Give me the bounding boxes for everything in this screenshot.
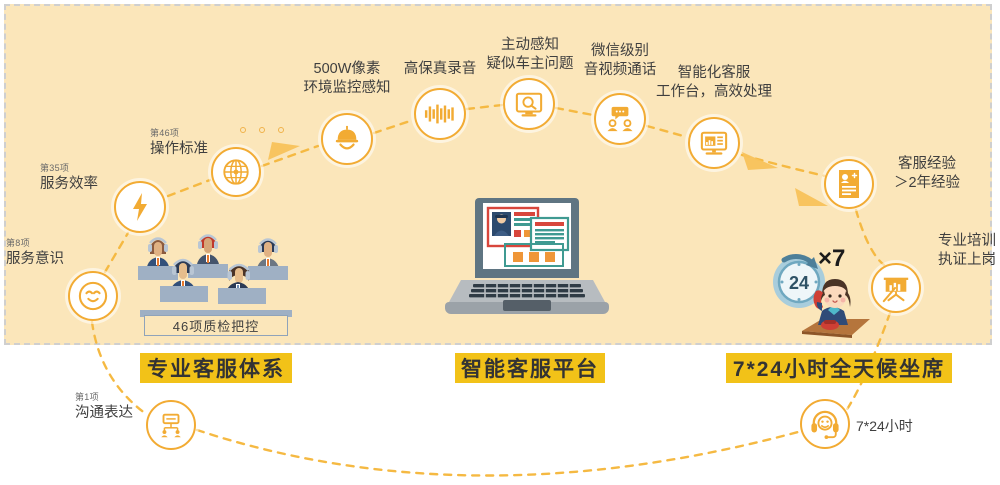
qc-label: 46项质检把控 bbox=[144, 315, 288, 336]
node-operation-standard[interactable] bbox=[211, 147, 261, 197]
caption-smart-workbench: 智能化客服 工作台，高效处理 bbox=[641, 64, 787, 102]
call-center-agents-illustration bbox=[132, 230, 312, 322]
caption-line-1: 智能化客服 bbox=[641, 64, 787, 83]
caption-service-awareness: 第8项 服务意识 bbox=[6, 238, 64, 269]
node-active-perception[interactable] bbox=[503, 78, 555, 130]
infographic-canvas: 第8项 服务意识 第35项 服务效率 第46项 操作标准 bbox=[0, 0, 1000, 485]
dot-3 bbox=[278, 127, 284, 133]
dome-camera-icon bbox=[332, 125, 362, 153]
dot-2 bbox=[259, 127, 265, 133]
clock-multiplier: ×7 bbox=[818, 245, 845, 273]
node-av-call[interactable] bbox=[594, 93, 646, 145]
dot-1 bbox=[240, 127, 246, 133]
easel-chart-icon bbox=[881, 273, 911, 303]
rank-label: 第35项 bbox=[40, 163, 98, 175]
caption-line-2: 工作台，高效处理 bbox=[641, 83, 787, 102]
waveform-icon bbox=[424, 102, 456, 126]
title-label: 服务意识 bbox=[6, 250, 64, 269]
node-service-efficiency[interactable] bbox=[114, 181, 166, 233]
headset-icon bbox=[810, 409, 840, 439]
lightning-icon bbox=[129, 192, 151, 222]
quality-control-box: 46项质检把控 bbox=[140, 310, 292, 336]
caption-line-1: 微信级别 bbox=[560, 42, 680, 61]
title-label: 沟通表达 bbox=[75, 404, 133, 423]
caption-line-2: 环境监控感知 bbox=[276, 79, 418, 98]
workbench-icon bbox=[699, 129, 729, 157]
banner-round-the-clock-seats: 7*24小时全天候坐席 bbox=[726, 353, 952, 383]
caption-line-2: 执证上岗 bbox=[912, 251, 1000, 270]
clock-24x7-illustration: 24 ×7 bbox=[768, 243, 880, 343]
rank-label: 第1项 bbox=[75, 392, 133, 404]
node-communication-expression[interactable] bbox=[146, 400, 196, 450]
node-always-online[interactable] bbox=[800, 399, 850, 449]
smiley-icon bbox=[78, 281, 108, 311]
resume-icon bbox=[836, 169, 862, 199]
node-hifi-recording[interactable] bbox=[414, 88, 466, 140]
monitor-search-icon bbox=[514, 90, 544, 118]
banner-pro-service-system: 专业客服体系 bbox=[140, 353, 292, 383]
globe-icon bbox=[221, 157, 251, 187]
node-smart-workbench[interactable] bbox=[688, 117, 740, 169]
caption-line-2: ＞2年经验 bbox=[872, 174, 982, 193]
caption-communication-expression: 第1项 沟通表达 bbox=[75, 392, 133, 423]
title-label: 操作标准 bbox=[150, 140, 208, 159]
caption-service-efficiency: 第35项 服务效率 bbox=[40, 163, 98, 194]
rank-label: 第8项 bbox=[6, 238, 64, 250]
caption-professional-training: 专业培训 执证上岗 bbox=[912, 232, 1000, 270]
rank-label: 第46项 bbox=[150, 128, 208, 140]
node-env-monitor[interactable] bbox=[321, 113, 373, 165]
laptop-illustration bbox=[443, 196, 611, 320]
ellipsis-dots bbox=[240, 127, 284, 133]
phone-operator-illustration bbox=[800, 275, 874, 343]
caption-operation-standard: 第46项 操作标准 bbox=[150, 128, 208, 159]
node-service-experience[interactable] bbox=[824, 159, 874, 209]
node-service-awareness[interactable] bbox=[68, 271, 118, 321]
chat-people-icon bbox=[605, 105, 635, 133]
caption-service-experience: 客服经验 ＞2年经验 bbox=[872, 155, 982, 193]
banner-smart-service-platform: 智能客服平台 bbox=[455, 353, 605, 383]
caption-line-1: 客服经验 bbox=[872, 155, 982, 174]
org-chart-icon bbox=[156, 410, 186, 440]
always-online-label: 7*24小时 bbox=[856, 416, 913, 436]
caption-line-1: 专业培训 bbox=[912, 232, 1000, 251]
title-label: 服务效率 bbox=[40, 175, 98, 194]
